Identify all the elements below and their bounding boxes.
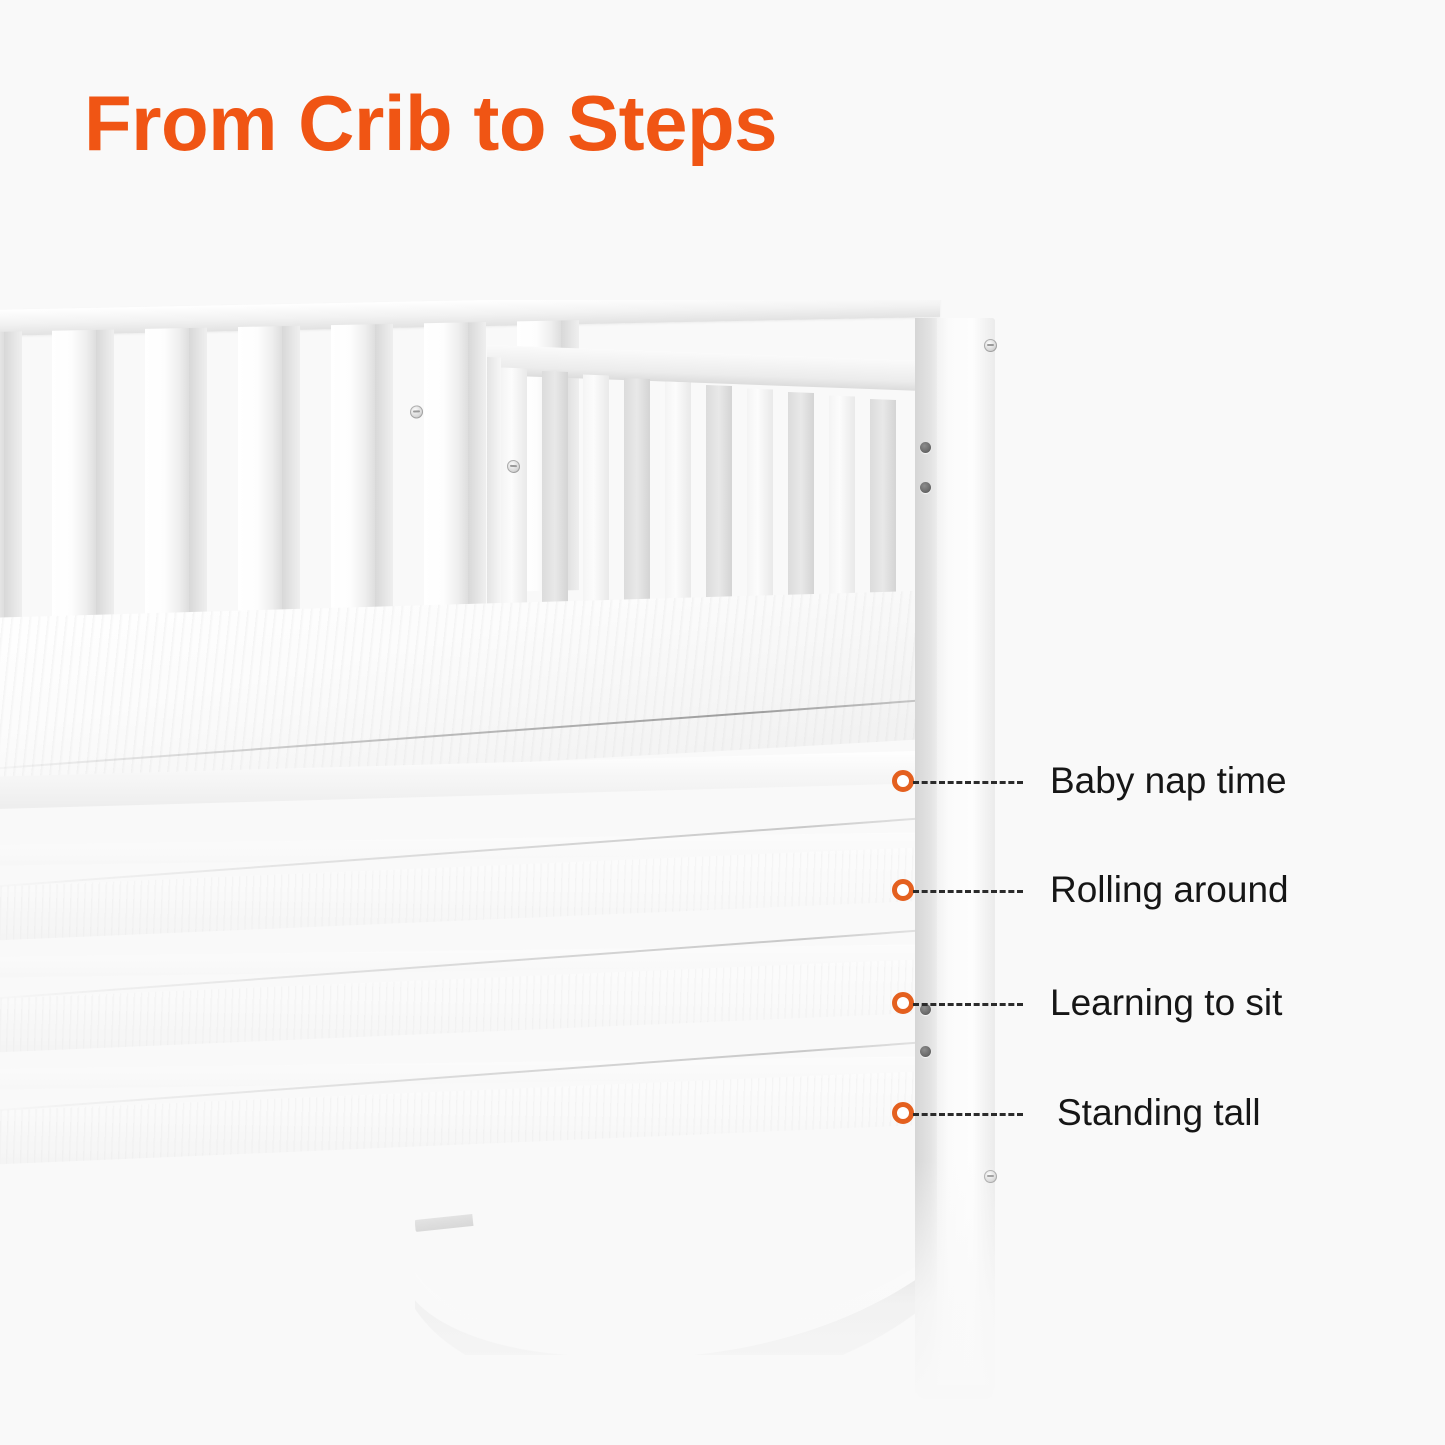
slat xyxy=(145,328,189,617)
mattress-ghost-level-3 xyxy=(0,958,950,1088)
callout-leader-line xyxy=(913,890,1023,893)
page-title: From Crib to Steps xyxy=(84,84,777,162)
callout-leader-line xyxy=(913,1003,1023,1006)
slat xyxy=(238,326,282,615)
back-rail-screw-head xyxy=(410,405,423,418)
callout-label: Standing tall xyxy=(1057,1094,1261,1131)
callout-marker-icon xyxy=(892,770,914,792)
callout-marker-icon xyxy=(892,1102,914,1124)
product-photo xyxy=(0,300,1050,1420)
slat xyxy=(424,322,468,611)
callout-marker-icon xyxy=(892,879,914,901)
mattress-peg-hole xyxy=(920,1046,931,1057)
slat xyxy=(0,332,4,621)
floor-gradient xyxy=(0,1160,1050,1420)
mattress-peg-hole xyxy=(920,482,931,493)
slat xyxy=(52,330,96,619)
mattress-level-1 xyxy=(0,590,950,840)
callout-label: Rolling around xyxy=(1050,871,1289,908)
post-top-screw-head xyxy=(984,339,997,352)
callout-leader-line xyxy=(913,781,1023,784)
infographic-canvas: From Crib to Steps xyxy=(0,0,1445,1445)
callout-label: Learning to sit xyxy=(1050,984,1282,1021)
slat xyxy=(331,324,375,613)
callout-label: Baby nap time xyxy=(1050,762,1287,799)
callout-leader-line xyxy=(913,1113,1023,1116)
side-rail-screw-head xyxy=(507,460,520,473)
callout-marker-icon xyxy=(892,992,914,1014)
mattress-ghost-level-2 xyxy=(0,846,950,976)
mattress-peg-hole xyxy=(920,442,931,453)
